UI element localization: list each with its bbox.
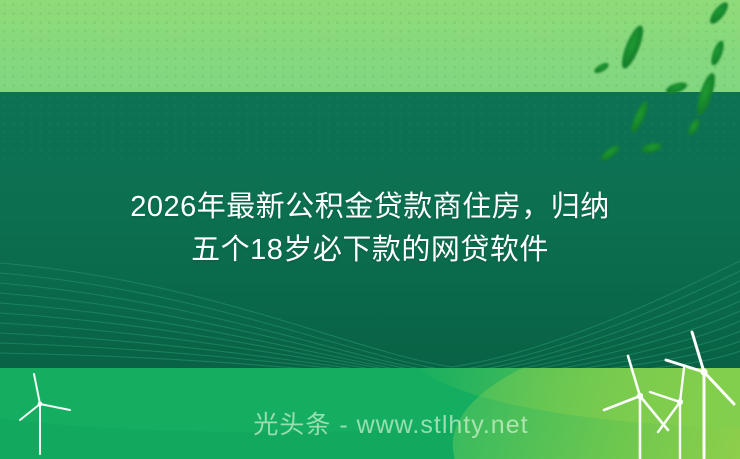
- dot-texture-overlay-dark: [0, 92, 740, 162]
- page-title: 2026年最新公积金贷款商住房，归纳 五个18岁必下款的网贷软件: [0, 186, 740, 272]
- promo-banner: 2026年最新公积金贷款商住房，归纳 五个18岁必下款的网贷软件 光头条 - w…: [0, 0, 740, 459]
- watermark: 光头条 - www.stlhty.net: [0, 405, 740, 441]
